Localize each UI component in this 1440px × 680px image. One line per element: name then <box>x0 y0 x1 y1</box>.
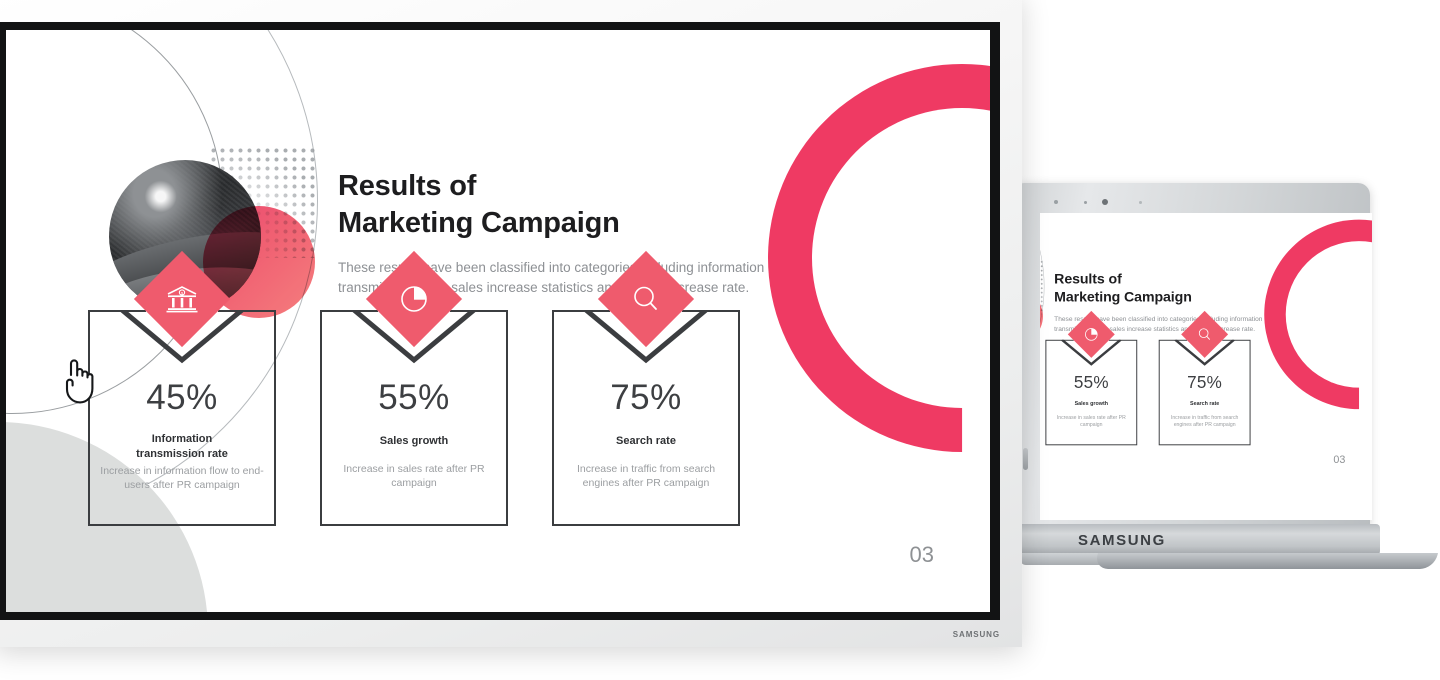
card-percent-sales: 55% <box>322 378 506 418</box>
card-percent-3: 75% <box>1160 373 1250 393</box>
laptop-slide-viewport: Results of Marketing Campaign These resu… <box>1040 213 1372 520</box>
monitor-brand-logo: SAMSUNG <box>953 630 1000 639</box>
laptop-webcam-strip <box>1054 200 1204 206</box>
laptop-device: Results of Marketing Campaign These resu… <box>1000 175 1440 575</box>
card-label-3: Search rate <box>1165 400 1245 407</box>
laptop-base-front <box>1094 553 1438 569</box>
background-floor <box>0 648 1440 680</box>
card-percent-information: 45% <box>90 378 274 418</box>
stat-card-3[interactable]: 75% Search rate Increase in traffic from… <box>1159 340 1251 446</box>
presentation-slide: Results of Marketing Campaign These resu… <box>6 30 990 612</box>
slide-page-number: 03 <box>910 542 934 568</box>
card-description-sales: Increase in sales rate after PR campaign <box>330 462 498 490</box>
card-description-2: Increase in sales rate after PR campaign <box>1050 414 1132 428</box>
card-label-sales: Sales growth <box>332 434 496 449</box>
card-description-3: Increase in traffic from search engines … <box>1164 414 1246 428</box>
laptop-screen[interactable]: Results of Marketing Campaign These resu… <box>1040 213 1372 520</box>
monitor-device: Results of Marketing Campaign These resu… <box>0 0 1022 647</box>
monitor-screen[interactable]: Results of Marketing Campaign These resu… <box>6 30 990 612</box>
pie-chart-icon <box>1084 327 1099 342</box>
stat-card-search-rate[interactable]: 75% Search rate Increase in traffic from… <box>552 310 740 526</box>
card-description-search: Increase in traffic from search engines … <box>562 462 730 490</box>
card-label-information: Information transmission rate <box>100 432 264 462</box>
laptop-lid: Results of Marketing Campaign These resu… <box>1014 183 1370 528</box>
laptop-slide-scaled: Results of Marketing Campaign These resu… <box>1040 213 1372 487</box>
card-percent-2: 55% <box>1046 373 1136 393</box>
stat-card-information-transmission[interactable]: $ 45% <box>88 310 276 526</box>
card-description-information: Increase in information flow to end-user… <box>98 464 266 492</box>
pointing-hand-cursor <box>60 358 94 406</box>
title-line-1: Results of <box>1054 270 1308 288</box>
pie-chart-icon <box>399 284 429 314</box>
scene: Results of Marketing Campaign These resu… <box>0 0 1440 680</box>
laptop-base <box>1008 524 1380 556</box>
laptop-brand-logo: SAMSUNG <box>1078 532 1166 549</box>
laptop-side-button[interactable] <box>1023 448 1028 470</box>
slide-page-number-mini: 03 <box>1333 453 1345 466</box>
magnifier-icon <box>631 284 661 314</box>
title-line-2: Marketing Campaign <box>338 205 858 242</box>
slide-mini: Results of Marketing Campaign These resu… <box>1040 213 1372 487</box>
stat-card-2[interactable]: 55% Sales growth Increase in sales rate … <box>1045 340 1137 446</box>
page-title: Results of Marketing Campaign <box>338 168 858 242</box>
title-line-2: Marketing Campaign <box>1054 289 1308 307</box>
title-line-1: Results of <box>338 168 858 205</box>
decor-ring-outline-2 <box>1040 213 1044 443</box>
slide-title-mini: Results of Marketing Campaign <box>1054 270 1308 306</box>
card-label-2: Sales growth <box>1051 400 1131 407</box>
bank-icon: $ <box>165 284 199 314</box>
card-label-search: Search rate <box>564 434 728 449</box>
card-percent-search: 75% <box>554 378 738 418</box>
magnifier-icon <box>1197 327 1212 342</box>
monitor-inner-bezel: Results of Marketing Campaign These resu… <box>0 22 1000 620</box>
stat-card-sales-growth[interactable]: 55% Sales growth Increase in sales rate … <box>320 310 508 526</box>
